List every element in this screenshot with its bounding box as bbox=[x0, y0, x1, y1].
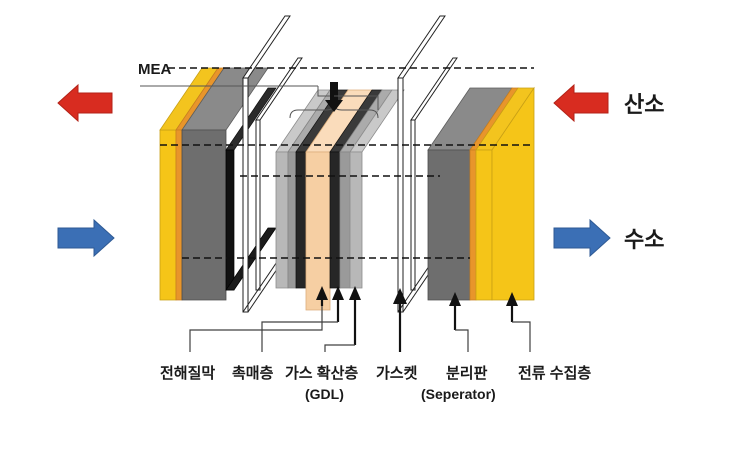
diagram-canvas: MEA 전해질막 bbox=[0, 0, 739, 450]
side-label-oxygen: 산소 bbox=[624, 92, 664, 117]
bottom-sublabel-gdl: (GDL) bbox=[305, 386, 344, 402]
mea-label: MEA bbox=[138, 61, 172, 78]
bottom-label-gdl: 가스 확산층 bbox=[285, 364, 358, 382]
bottom-sublabel-separator: (Seperator) bbox=[421, 386, 496, 402]
bottom-label-catalyst-layer: 촉매층 bbox=[232, 365, 274, 382]
side-label-hydrogen: 수소 bbox=[624, 227, 664, 252]
bottom-label-separator: 분리판 bbox=[446, 365, 488, 382]
bottom-label-electrolyte-membrane: 전해질막 bbox=[160, 364, 215, 382]
fuel-cell-diagram: MEA 전해질막 bbox=[0, 0, 739, 450]
bottom-label-current-collector: 전류 수집층 bbox=[518, 364, 591, 382]
bottom-label-gasket: 가스켓 bbox=[376, 365, 418, 382]
